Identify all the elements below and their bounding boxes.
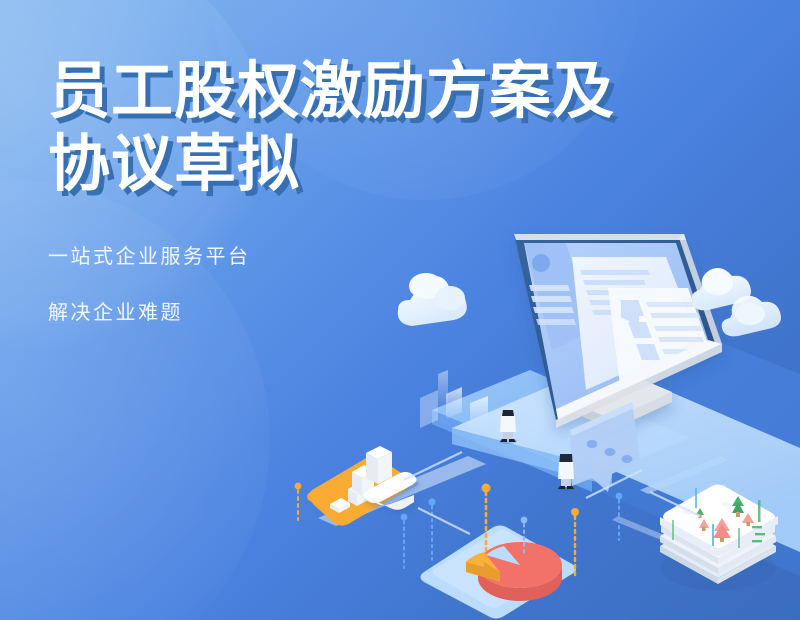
subtitle-line-1: 一站式企业服务平台 (48, 247, 488, 267)
promo-banner: 员工股权激励方案及 协议草拟 一站式企业服务平台 解决企业难题 (0, 0, 800, 620)
pie-chart-platform (421, 526, 577, 619)
dot-blue (616, 493, 623, 500)
bar-chart-platform (307, 446, 420, 526)
dot-orange (482, 484, 491, 493)
dot-orange (295, 483, 302, 490)
dot-blue (401, 514, 408, 521)
headline-block: 员工股权激励方案及 协议草拟 一站式企业服务平台 解决企业难题 (48, 56, 488, 323)
dot-blue (521, 517, 528, 524)
headline-line-2: 协议草拟 (48, 129, 488, 202)
dot-blue (428, 498, 435, 505)
headline-line-1: 员工股权激励方案及 (48, 56, 488, 129)
subtitle-line-2: 解决企业难题 (48, 303, 488, 323)
dot-orange (571, 508, 579, 516)
cloud-right (688, 258, 800, 343)
